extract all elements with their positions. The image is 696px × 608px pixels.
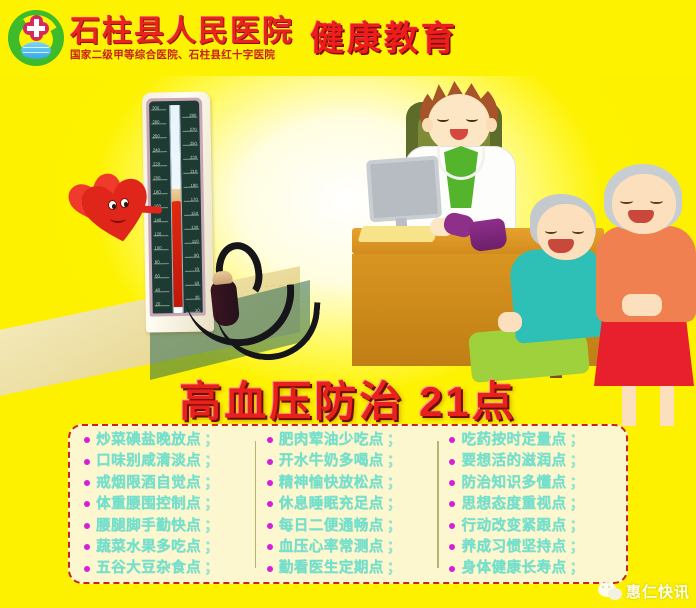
tip-separator: ；: [204, 433, 219, 448]
tips-panel: 炒菜碘盐晚放点； 口味别咸清淡点； 戒烟限酒自觉点； 体重腰围控制点； 腰腿脚手…: [68, 424, 628, 584]
list-item: 开水牛奶多喝点；: [259, 454, 438, 469]
bullet-dot: [267, 566, 273, 572]
wechat-watermark: 惠仁快讯: [598, 581, 690, 602]
bullet-dot: [267, 523, 273, 529]
tip-separator: ；: [569, 519, 584, 534]
tip-text: 养成习惯坚持点: [461, 540, 566, 555]
tip-text: 口味别咸清淡点: [96, 454, 201, 469]
list-item: 血压心率常测点；: [259, 540, 438, 555]
list-item: 蔬菜水果多吃点；: [76, 540, 255, 555]
list-item: 口味别咸清淡点；: [76, 454, 255, 469]
list-item: 勤看医生定期点；: [259, 561, 438, 576]
tip-text: 防治知识多懂点: [461, 476, 566, 491]
tips-column-3: 吃药按时定量点； 要想活的滋润点； 防治知识多懂点； 思想态度重视点； 行动改变…: [439, 433, 622, 576]
bullet-dot: [267, 501, 273, 507]
tips-column-1: 炒菜碘盐晚放点； 口味别咸清淡点； 戒烟限酒自觉点； 体重腰围控制点； 腰腿脚手…: [74, 433, 257, 576]
bullet-dot: [449, 566, 455, 572]
tip-text: 勤看医生定期点: [279, 561, 384, 576]
tip-separator: ；: [204, 497, 219, 512]
bullet-dot: [449, 437, 455, 443]
hospital-subtitle: 国家二级甲等综合医院、石柱县红十字医院: [70, 49, 294, 62]
hospital-name: 石柱县人民医院: [70, 16, 294, 48]
tip-text: 肥肉荤油少吃点: [279, 433, 384, 448]
bullet-dot: [267, 459, 273, 465]
bullet-dot: [449, 523, 455, 529]
list-item: 行动改变紧跟点；: [441, 519, 620, 534]
tip-separator: ；: [569, 561, 584, 576]
monitor-icon: [366, 156, 442, 223]
bullet-dot: [267, 437, 273, 443]
list-item: 炒菜碘盐晚放点；: [76, 433, 255, 448]
bullet-dot: [84, 523, 90, 529]
tip-separator: ；: [387, 519, 402, 534]
tip-text: 炒菜碘盐晚放点: [96, 433, 201, 448]
bullet-dot: [449, 501, 455, 507]
bullet-dot: [84, 544, 90, 550]
poster-header: 石柱县人民医院 国家二级甲等综合医院、石柱县红十字医院 健康教育: [0, 0, 696, 76]
list-item: 休息睡眠充足点；: [259, 497, 438, 512]
tip-separator: ；: [204, 476, 219, 491]
health-education-poster: 石柱县人民医院 国家二级甲等综合医院、石柱县红十字医院 健康教育 300 290…: [0, 0, 696, 608]
hospital-name-block: 石柱县人民医院 国家二级甲等综合医院、石柱县红十字医院: [70, 16, 294, 62]
tip-text: 吃药按时定量点: [461, 433, 566, 448]
tip-text: 休息睡眠充足点: [279, 497, 384, 512]
cartoon-heart-icon: [78, 176, 162, 254]
page-title: 高血压防治 21点: [0, 368, 696, 429]
list-item: 防治知识多懂点；: [441, 476, 620, 491]
education-banner-title: 健康教育: [310, 11, 458, 60]
tip-separator: ；: [569, 476, 584, 491]
tip-separator: ；: [569, 454, 584, 469]
list-item: 养成习惯坚持点；: [441, 540, 620, 555]
list-item: 五谷大豆杂食点；: [76, 561, 255, 576]
tip-separator: ；: [569, 497, 584, 512]
hospital-logo-icon: [6, 8, 66, 68]
tip-separator: ；: [387, 497, 402, 512]
list-item: 每日二便通畅点；: [259, 519, 438, 534]
bullet-dot: [84, 437, 90, 443]
tip-separator: ；: [387, 561, 402, 576]
list-item: 腰腿脚手勤快点；: [76, 519, 255, 534]
tip-separator: ；: [204, 561, 219, 576]
tip-text: 要想活的滋润点: [461, 454, 566, 469]
list-item: 戒烟限酒自觉点；: [76, 476, 255, 491]
globe-shape: [21, 42, 51, 59]
list-item: 思想态度重视点；: [441, 497, 620, 512]
bullet-dot: [449, 459, 455, 465]
list-item: 体重腰围控制点；: [76, 497, 255, 512]
bullet-dot: [449, 544, 455, 550]
tip-separator: ；: [204, 454, 219, 469]
tip-text: 体重腰围控制点: [96, 497, 201, 512]
keyboard-icon: [358, 226, 439, 242]
tip-separator: ；: [387, 433, 402, 448]
tip-text: 精神愉快放松点: [279, 476, 384, 491]
tip-text: 蔬菜水果多吃点: [96, 540, 201, 555]
illustration-area: 300 290 280 270 260 250 240 230 220 210 …: [0, 76, 696, 366]
tip-separator: ；: [387, 540, 402, 555]
tip-text: 开水牛奶多喝点: [279, 454, 384, 469]
tip-separator: ；: [204, 519, 219, 534]
tip-text: 戒烟限酒自觉点: [96, 476, 201, 491]
tips-column-2: 肥肉荤油少吃点； 开水牛奶多喝点； 精神愉快放松点； 休息睡眠充足点； 每日二便…: [257, 433, 440, 576]
list-item: 吃药按时定量点；: [441, 433, 620, 448]
standing-patient-head: [612, 174, 676, 234]
doctor-head: [428, 94, 490, 152]
bullet-dot: [84, 501, 90, 507]
list-item: 肥肉荤油少吃点；: [259, 433, 438, 448]
tip-separator: ；: [387, 454, 402, 469]
bullet-dot: [267, 480, 273, 486]
cross-flower-icon: [24, 16, 48, 40]
tip-text: 行动改变紧跟点: [461, 519, 566, 534]
bullet-dot: [449, 480, 455, 486]
tip-separator: ；: [569, 433, 584, 448]
tip-text: 每日二便通畅点: [279, 519, 384, 534]
tip-text: 血压心率常测点: [279, 540, 384, 555]
bullet-dot: [267, 544, 273, 550]
watermark-text: 惠仁快讯: [626, 581, 690, 602]
bp-monitor-device: [468, 218, 508, 253]
tip-separator: ；: [204, 540, 219, 555]
bullet-dot: [84, 566, 90, 572]
tip-text: 思想态度重视点: [461, 497, 566, 512]
list-item: 精神愉快放松点；: [259, 476, 438, 491]
bullet-dot: [84, 459, 90, 465]
tip-text: 身体健康长寿点: [461, 561, 566, 576]
tip-text: 腰腿脚手勤快点: [96, 519, 201, 534]
tip-separator: ；: [569, 540, 584, 555]
list-item: 要想活的滋润点；: [441, 454, 620, 469]
tip-separator: ；: [387, 476, 402, 491]
bullet-dot: [84, 480, 90, 486]
wechat-icon: [598, 582, 622, 602]
list-item: 身体健康长寿点；: [441, 561, 620, 576]
tip-text: 五谷大豆杂食点: [96, 561, 201, 576]
